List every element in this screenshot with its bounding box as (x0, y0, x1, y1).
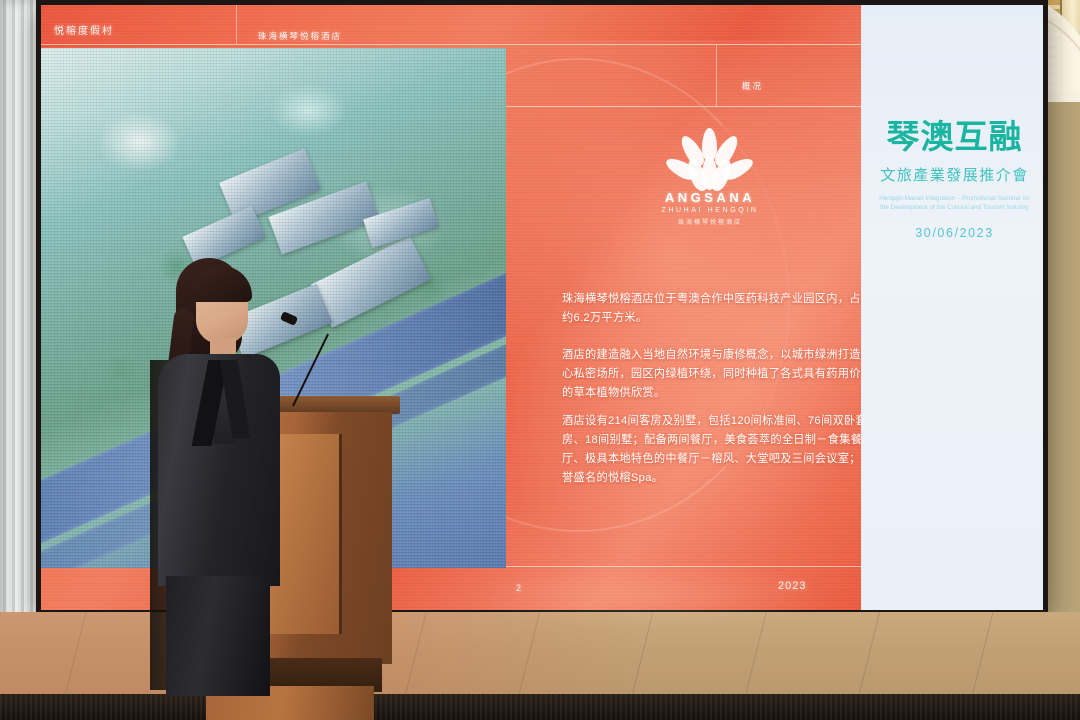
slide-header-left-label: 悦榕度假村 (54, 22, 114, 37)
angsana-logo-location: ZHUHAI HENGQIN (640, 207, 780, 214)
speaker-person (152, 256, 292, 696)
panel-headline: 琴澳互融 (861, 118, 1048, 156)
header-divider-1 (236, 0, 237, 44)
header-divider-2 (716, 44, 717, 106)
header-rule-top (36, 44, 861, 45)
slide-paragraph-1: 珠海横琴悦榕酒店位于粤澳合作中医药科技产业园区内，占地约6.2万平方米。 (562, 290, 874, 328)
angsana-logo-name: ANGSANA (640, 190, 780, 205)
angsana-logo: ANGSANA ZHUHAI HENGQIN 珠海横琴悦榕酒店 (640, 128, 780, 226)
floor-light-spot (470, 560, 830, 630)
stage-curtain (0, 0, 40, 645)
screenshot-root: 悦榕度假村 珠海横琴悦榕酒店 概况 (0, 0, 1080, 720)
slide-paragraph-3: 酒店设有214间客房及别墅，包括120间标准间、76间双卧套房、18间别墅；配备… (562, 412, 874, 488)
panel-date: 30/06/2023 (861, 226, 1048, 240)
title-panel: 琴澳互融 文旅產業發展推介會 Hengqin-Macao Integration… (861, 0, 1048, 615)
speaker-skirt (166, 576, 270, 696)
slide-header-right-label: 概况 (742, 80, 763, 92)
slide-header-mid-label: 珠海横琴悦榕酒店 (258, 30, 342, 42)
stage-front-edge (0, 694, 1080, 720)
slide-paragraph-2: 酒店的建造融入当地自然环境与康修概念，以城市绿洲打造身心私密场所，园区内绿植环绕… (562, 346, 874, 403)
panel-subhead: 文旅產業發展推介會 (861, 164, 1048, 185)
panel-english-line-2: the Development of the Cultural and Tour… (861, 203, 1048, 212)
angsana-flower-mark-icon (640, 128, 780, 188)
angsana-logo-chinese: 珠海横琴悦榕酒店 (640, 217, 780, 226)
panel-english-line-1: Hengqin-Macao Integration – Promotional … (861, 194, 1048, 203)
